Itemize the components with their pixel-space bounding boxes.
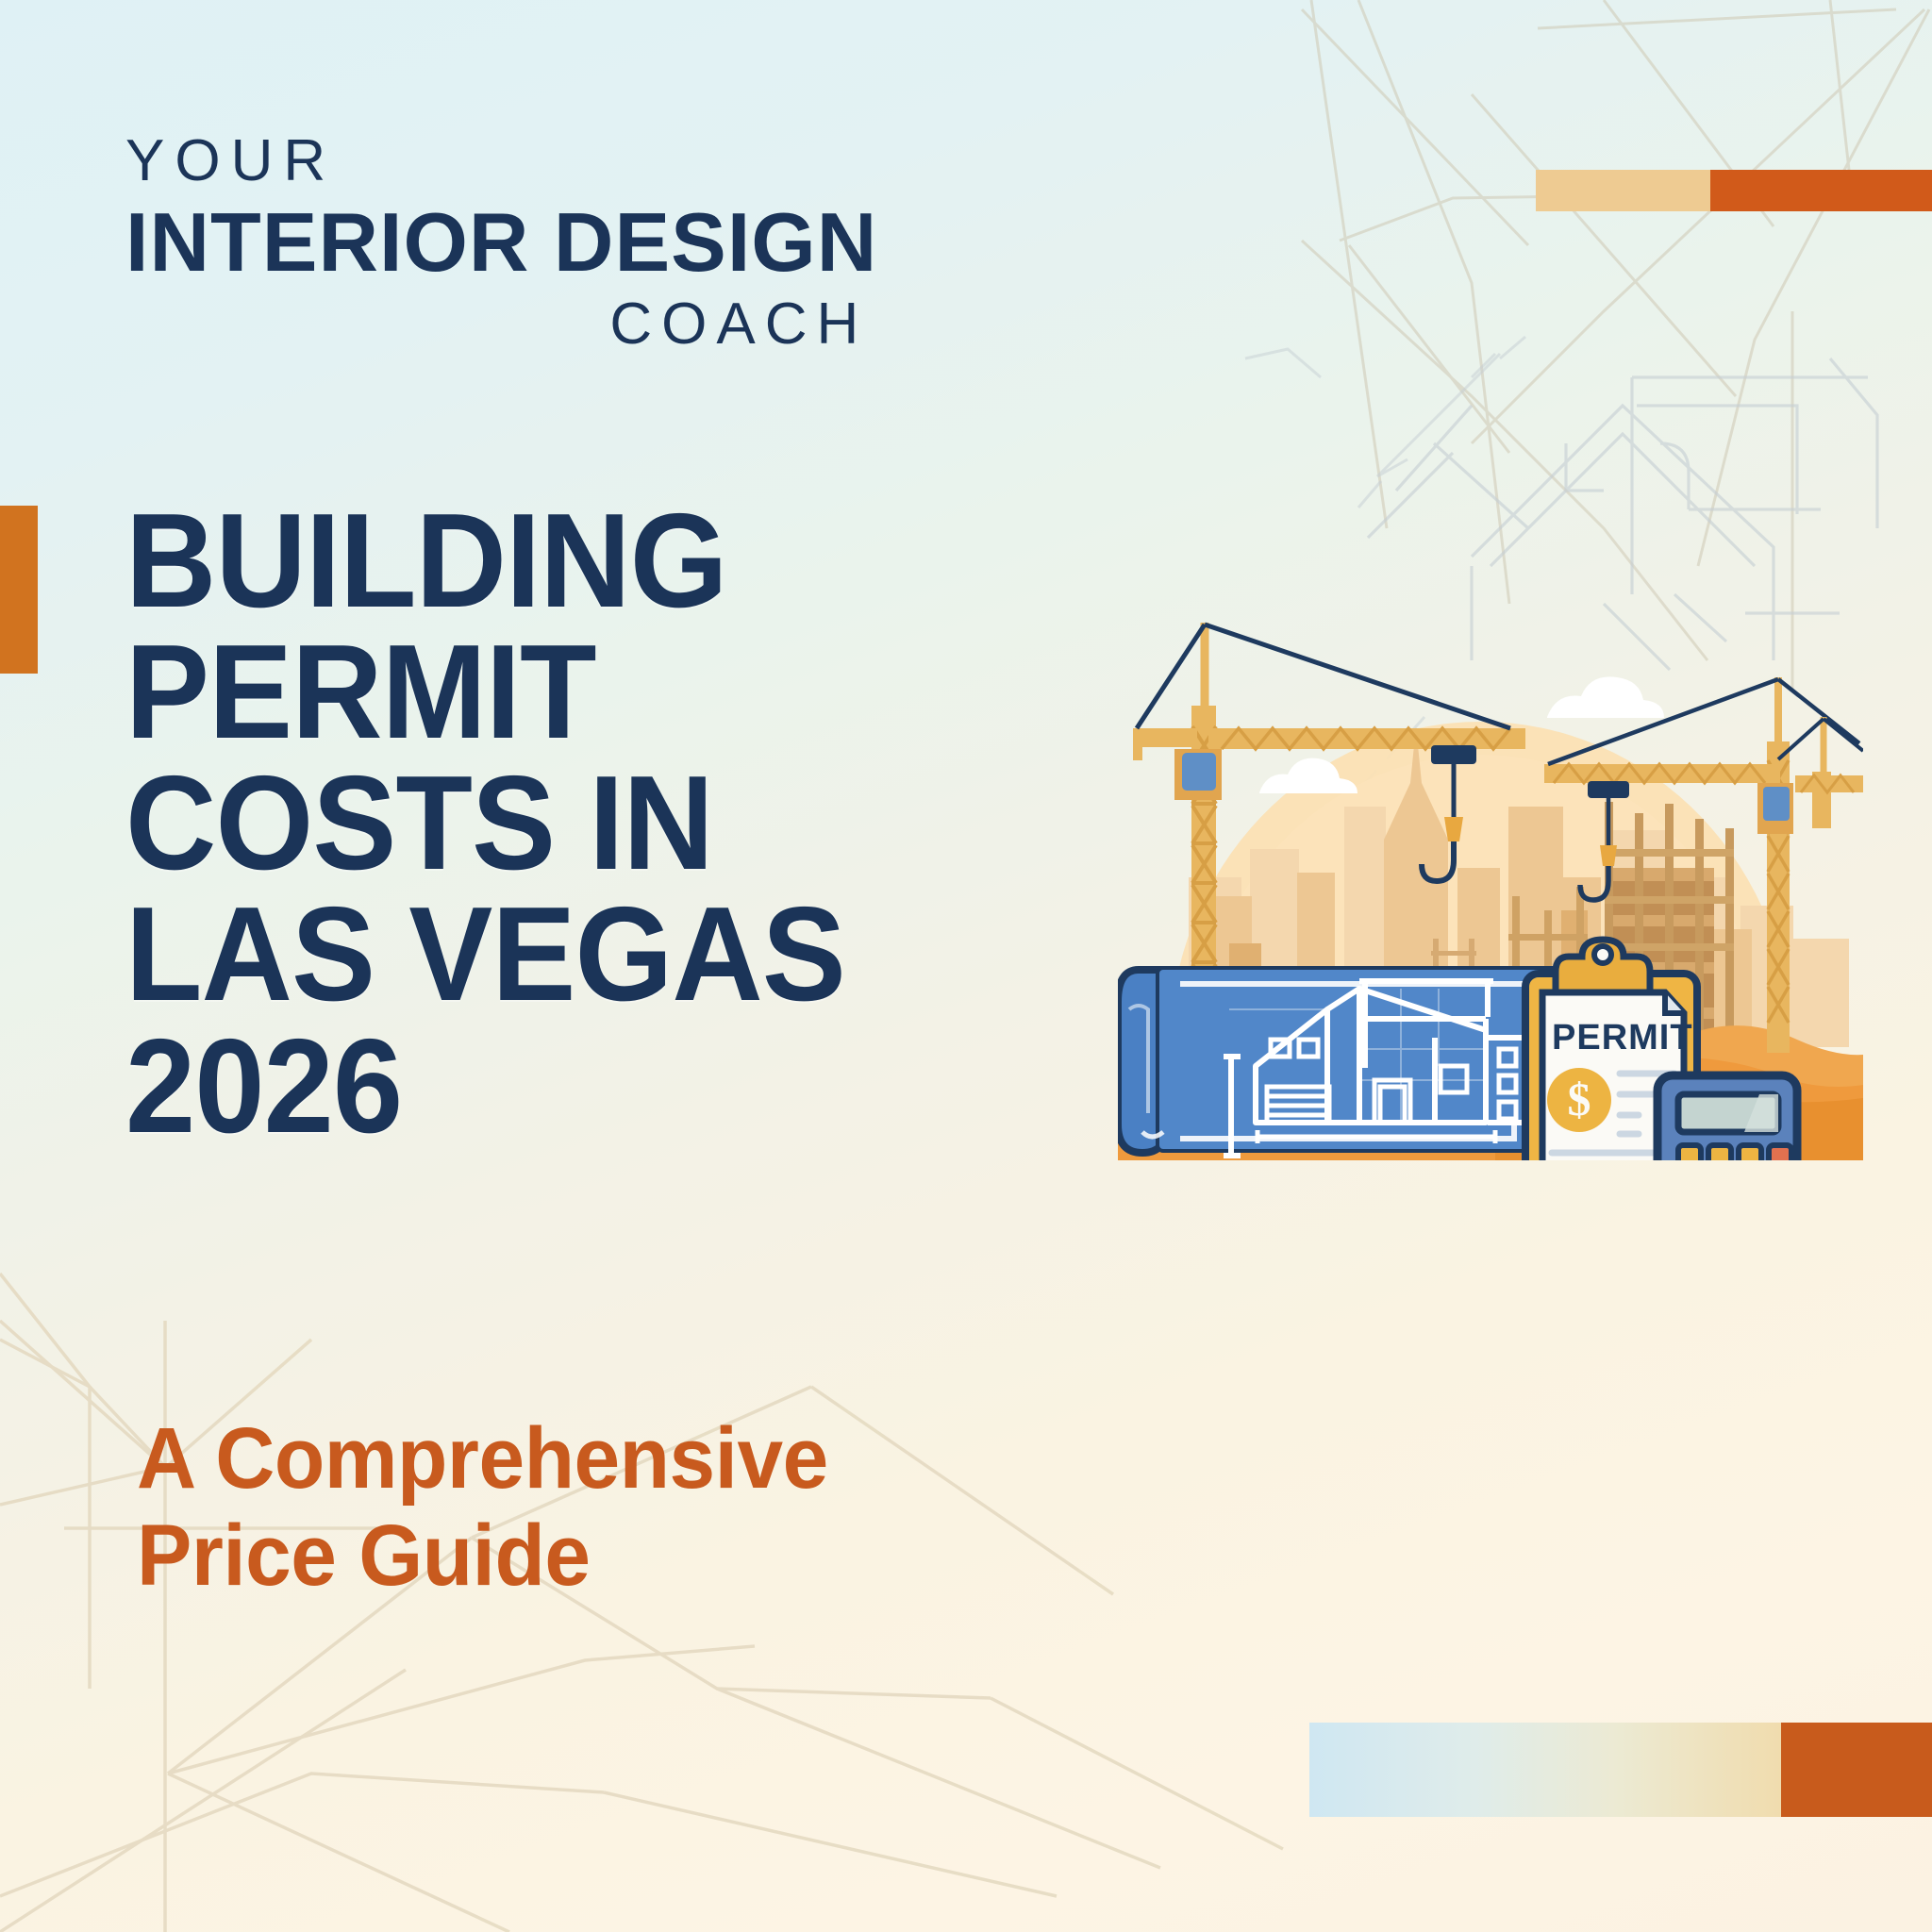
- headline-line-5: 2026: [125, 1021, 871, 1152]
- headline-line-2: PERMIT: [125, 626, 871, 758]
- subtitle: A Comprehensive Price Guide: [137, 1410, 986, 1605]
- construction-illustration: PERMIT $: [1118, 566, 1863, 1160]
- headline-line-4: LAS VEGAS: [125, 889, 871, 1020]
- top-right-accent-bar: [1536, 170, 1932, 211]
- page-title: BUILDING PERMIT COSTS IN LAS VEGAS 2026: [125, 495, 918, 1152]
- svg-text:$: $: [1568, 1073, 1591, 1125]
- subtitle-line-2: Price Guide: [137, 1507, 943, 1605]
- top-right-bar-orange-segment: [1710, 170, 1932, 211]
- brand-line-your: YOUR: [125, 132, 877, 191]
- headline-line-3: COSTS IN: [125, 758, 871, 889]
- bottom-right-bar-gradient-segment: [1309, 1723, 1781, 1817]
- brand-logo: YOUR INTERIOR DESIGN COACH: [125, 132, 877, 354]
- calculator: [1657, 1075, 1797, 1160]
- bottom-right-accent-bar: [1309, 1723, 1932, 1817]
- top-right-bar-tan-segment: [1536, 170, 1710, 211]
- permit-clipboard-label: PERMIT: [1552, 1018, 1693, 1058]
- brand-line-coach: COACH: [125, 295, 877, 354]
- left-accent-bar: [0, 506, 38, 674]
- bottom-right-bar-orange-segment: [1781, 1723, 1932, 1817]
- poster-canvas: YOUR INTERIOR DESIGN COACH BUILDING PERM…: [0, 0, 1932, 1932]
- subtitle-line-1: A Comprehensive: [137, 1410, 943, 1507]
- headline-line-1: BUILDING: [125, 495, 871, 626]
- brand-line-interior-design: INTERIOR DESIGN: [125, 196, 877, 290]
